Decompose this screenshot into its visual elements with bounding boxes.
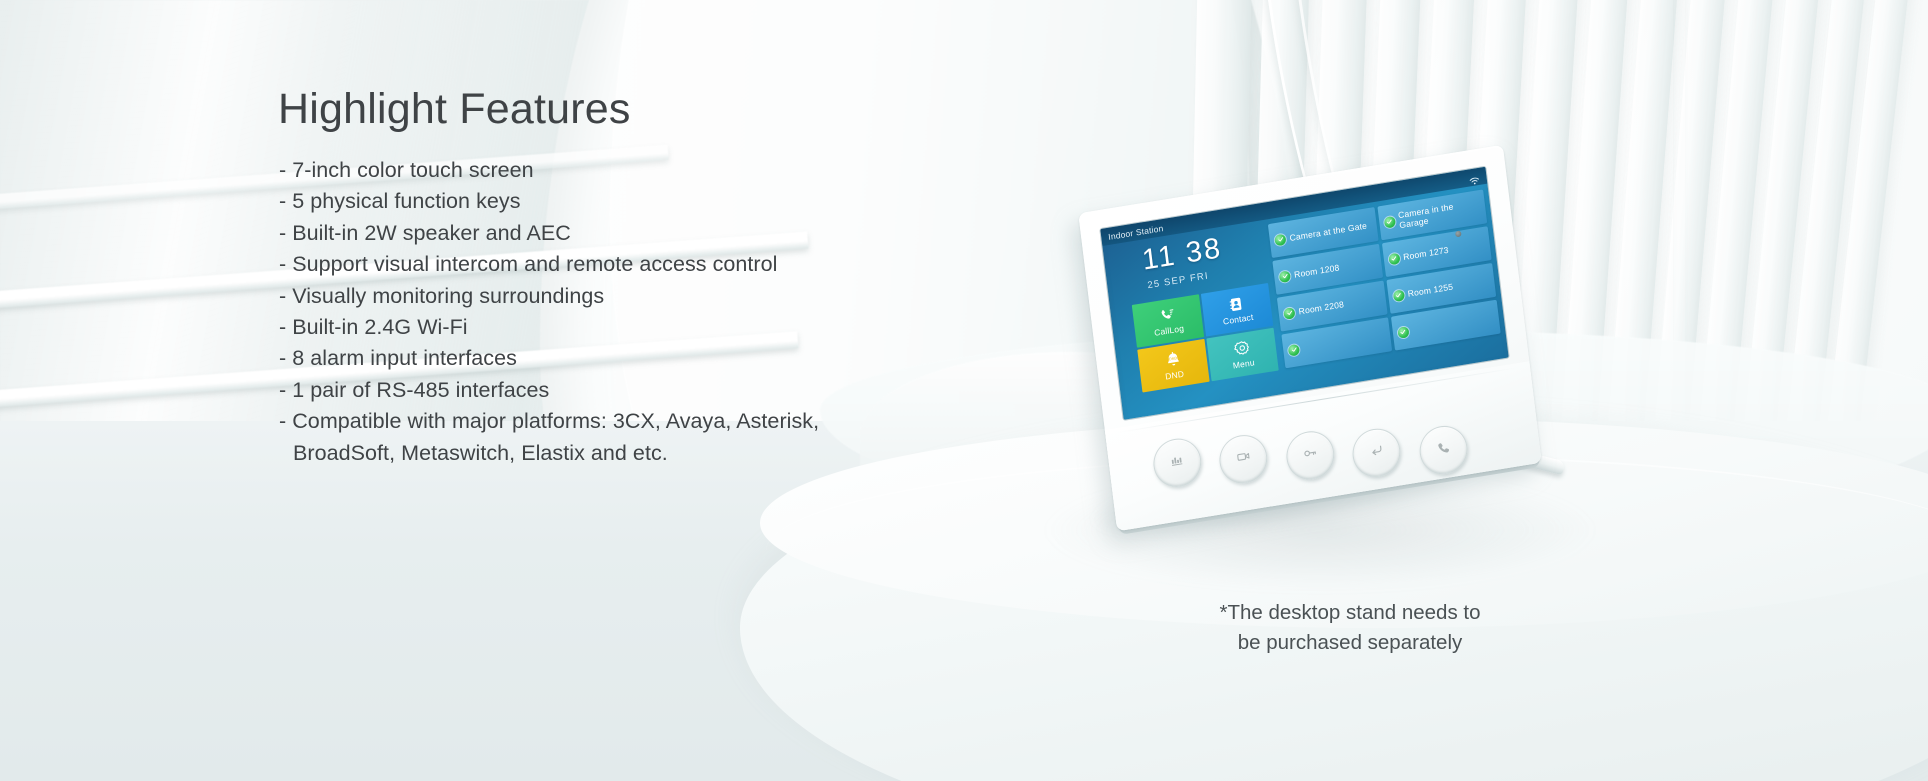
device-list-label: Room 2208 — [1298, 299, 1344, 316]
device-list-label: Room 1273 — [1403, 245, 1449, 262]
status-online-icon — [1388, 252, 1400, 265]
footnote-line-1: *The desktop stand needs to — [1160, 598, 1540, 628]
status-online-icon — [1283, 307, 1295, 320]
device-list-label: Room 1255 — [1407, 282, 1453, 299]
wifi-icon — [1468, 172, 1480, 183]
tile-label: Menu — [1232, 357, 1255, 370]
device-list-grid: Camera at the Gate Camera in the Garage — [1268, 189, 1501, 368]
status-online-icon — [1392, 289, 1404, 302]
alarm-icon — [1169, 452, 1185, 473]
screen-left-column: 11 38 25 SEP FRI — [1102, 220, 1286, 420]
status-online-icon — [1288, 343, 1300, 356]
feature-list: - 7-inch color touch screen - 5 physical… — [279, 155, 899, 469]
footnote: *The desktop stand needs to be purchased… — [1160, 598, 1540, 658]
dnd-bell-icon: DND — [1163, 350, 1182, 370]
status-online-icon — [1397, 326, 1409, 339]
screen-right-column: Camera at the Gate Camera in the Garage — [1265, 184, 1508, 394]
contact-book-icon — [1227, 295, 1245, 313]
tile-menu[interactable]: Menu — [1206, 328, 1278, 382]
feature-item: - Compatible with major platforms: 3CX, … — [279, 406, 899, 437]
device-list-label: Room 1208 — [1294, 262, 1340, 279]
tile-dnd[interactable]: DND DND — [1137, 339, 1209, 393]
tile-label: DND — [1165, 369, 1185, 382]
feature-item: - 5 physical function keys — [279, 186, 899, 217]
device-list-label: Camera in the Garage — [1398, 197, 1482, 230]
status-online-icon — [1383, 215, 1395, 228]
tile-label: CallLog — [1154, 323, 1185, 338]
feature-item: - 1 pair of RS-485 interfaces — [279, 375, 899, 406]
function-tiles: CallLog — [1132, 282, 1284, 392]
monitor-key[interactable] — [1217, 432, 1270, 487]
indoor-station-device: Indoor Station 11 38 25 SEP FRI — [1078, 145, 1541, 532]
phone-log-icon — [1158, 306, 1176, 324]
key-icon — [1302, 444, 1319, 466]
text-panel: Highlight Features - 7-inch color touch … — [0, 0, 900, 781]
video-camera-icon — [1235, 448, 1252, 470]
scene: Highlight Features - 7-inch color touch … — [0, 0, 1928, 781]
feature-item: - Built-in 2.4G Wi-Fi — [279, 312, 899, 343]
status-online-icon — [1279, 270, 1291, 283]
feature-item: - 7-inch color touch screen — [279, 155, 899, 186]
unlock-key[interactable] — [1284, 428, 1337, 483]
gear-icon — [1232, 339, 1251, 359]
page-title: Highlight Features — [278, 85, 631, 134]
status-online-icon — [1274, 233, 1286, 246]
return-arrow-icon — [1368, 442, 1385, 464]
feature-item: - 8 alarm input interfaces — [279, 343, 899, 374]
tile-label: Contact — [1222, 311, 1254, 326]
footnote-line-2: be purchased separately — [1160, 628, 1540, 658]
phone-handset-icon — [1435, 439, 1452, 461]
alarm-key[interactable] — [1151, 435, 1204, 490]
feature-item: - Visually monitoring surroundings — [279, 281, 899, 312]
feature-item: - Support visual intercom and remote acc… — [279, 249, 899, 280]
device-list-label: Camera at the Gate — [1289, 220, 1367, 242]
feature-item: - Built-in 2W speaker and AEC — [279, 218, 899, 249]
feature-item-continuation: BroadSoft, Metaswitch, Elastix and etc. — [279, 438, 899, 469]
